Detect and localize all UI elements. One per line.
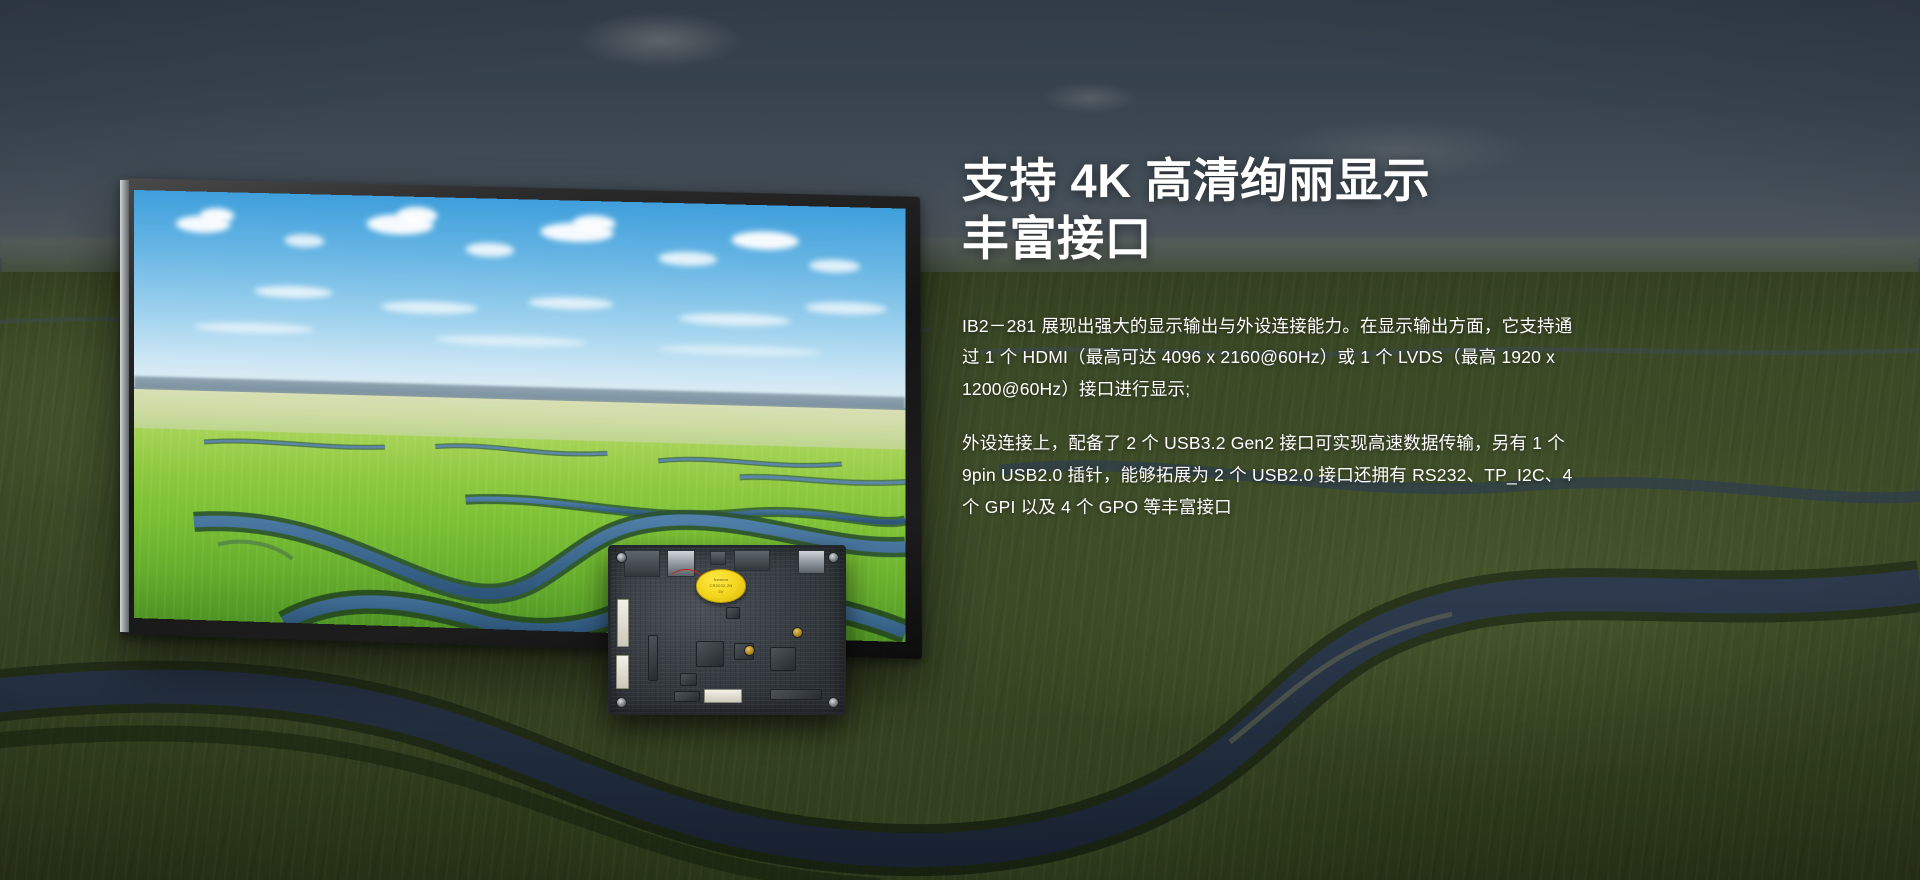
paragraph-peripheral-io: 外设连接上，配备了 2 个 USB3.2 Gen2 接口可实现高速数据传输，另有… <box>962 428 1582 524</box>
connector-edp <box>616 655 629 689</box>
tv-left-edge <box>120 180 129 632</box>
slot-m2 <box>770 689 822 700</box>
standoff-right <box>792 627 803 638</box>
standoff-center <box>744 645 755 656</box>
port-hdmi <box>734 550 770 571</box>
mounting-hole-tr <box>828 552 839 563</box>
header-gpio <box>674 691 700 702</box>
mounting-hole-br <box>828 697 839 708</box>
mounting-hole-tl <box>616 552 627 563</box>
headline-line-1: 支持 4K 高清绚丽显示 <box>962 152 1582 210</box>
mounting-hole-bl <box>616 697 627 708</box>
hero-banner: Newton CR2032-2N 3V <box>0 0 1920 880</box>
port-usb-c <box>710 551 726 565</box>
coin-cell-battery: Newton CR2032-2N 3V <box>696 569 746 603</box>
copy-column: 支持 4K 高清绚丽显示 丰富接口 IB2－281 展现出强大的显示输出与外设连… <box>962 152 1582 524</box>
port-ethernet <box>798 550 825 574</box>
body-copy: IB2－281 展现出强大的显示输出与外设连接能力。在显示输出方面，它支持通过 … <box>962 311 1582 524</box>
header-usb20-9pin <box>704 689 742 703</box>
headline-line-2: 丰富接口 <box>962 210 1582 268</box>
page-title: 支持 4K 高清绚丽显示 丰富接口 <box>962 152 1582 269</box>
paragraph-display-output: IB2－281 展现出强大的显示输出与外设连接能力。在显示输出方面，它支持通过 … <box>962 311 1582 407</box>
port-lan <box>624 550 660 577</box>
chip-flash <box>680 673 697 686</box>
slot-msata <box>648 635 658 681</box>
pcb: Newton CR2032-2N 3V <box>608 545 846 715</box>
chip-soc <box>696 641 724 667</box>
chip-pmic <box>726 607 740 619</box>
battery-spec: 3V <box>718 589 723 595</box>
chip-bridge <box>770 647 796 671</box>
connector-lvds <box>617 599 629 647</box>
motherboard: Newton CR2032-2N 3V <box>608 545 846 715</box>
battery-label: Newton CR2032-2N 3V <box>697 570 745 602</box>
